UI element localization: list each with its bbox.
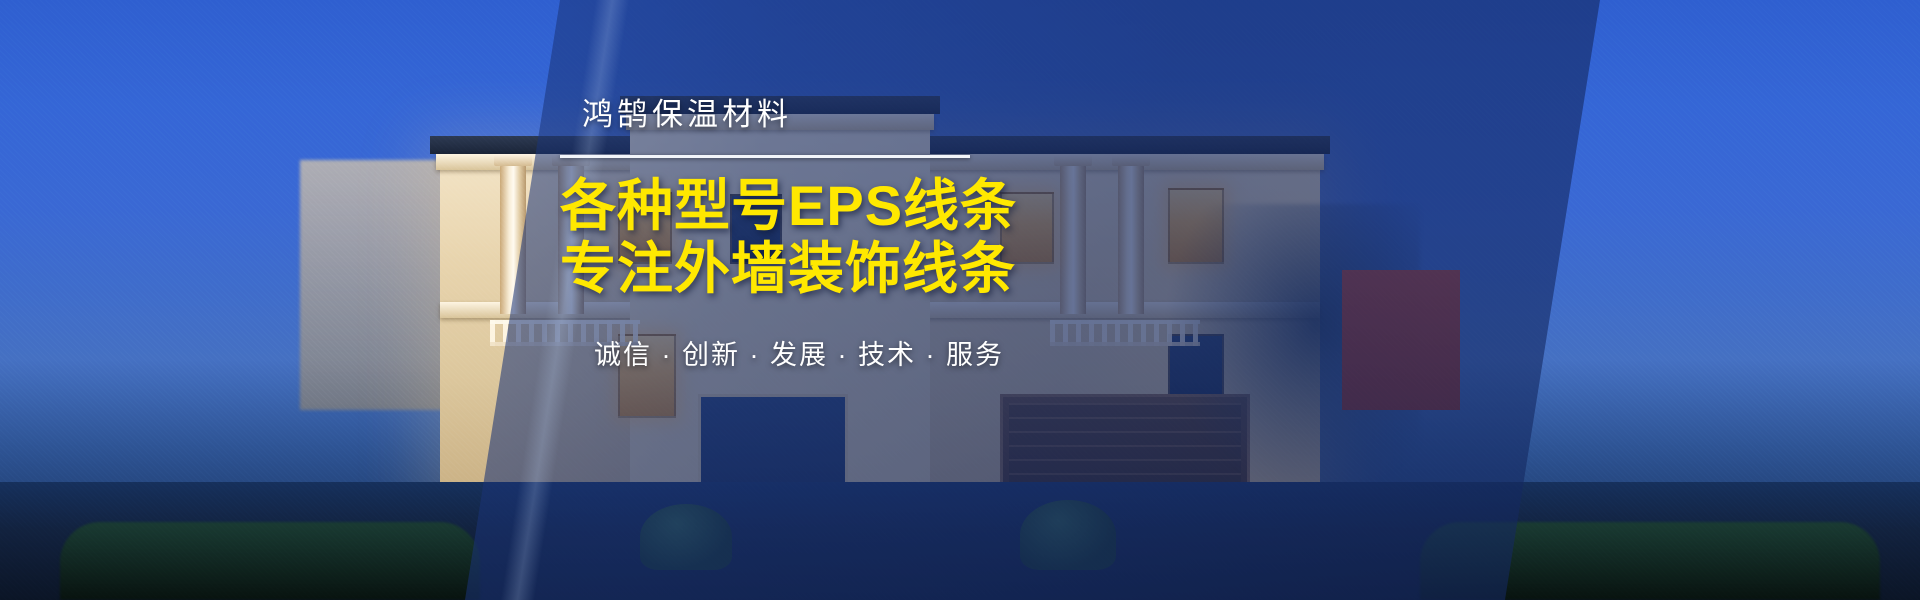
headline-line-1: 各种型号EPS线条 bbox=[560, 174, 1030, 237]
company-slogan: 诚信 · 创新 · 发展 · 技术 · 服务 bbox=[594, 333, 1030, 372]
company-name: 鸿鹄保温材料 bbox=[582, 96, 1030, 133]
banner-text-block: 鸿鹄保温材料 各种型号EPS线条 专注外墙装饰线条 诚信 · 创新 · 发展 ·… bbox=[560, 96, 1030, 372]
hero-banner: 鸿鹄保温材料 各种型号EPS线条 专注外墙装饰线条 诚信 · 创新 · 发展 ·… bbox=[0, 0, 1920, 600]
title-divider bbox=[560, 155, 970, 158]
headline-line-2: 专注外墙装饰线条 bbox=[560, 237, 1030, 300]
